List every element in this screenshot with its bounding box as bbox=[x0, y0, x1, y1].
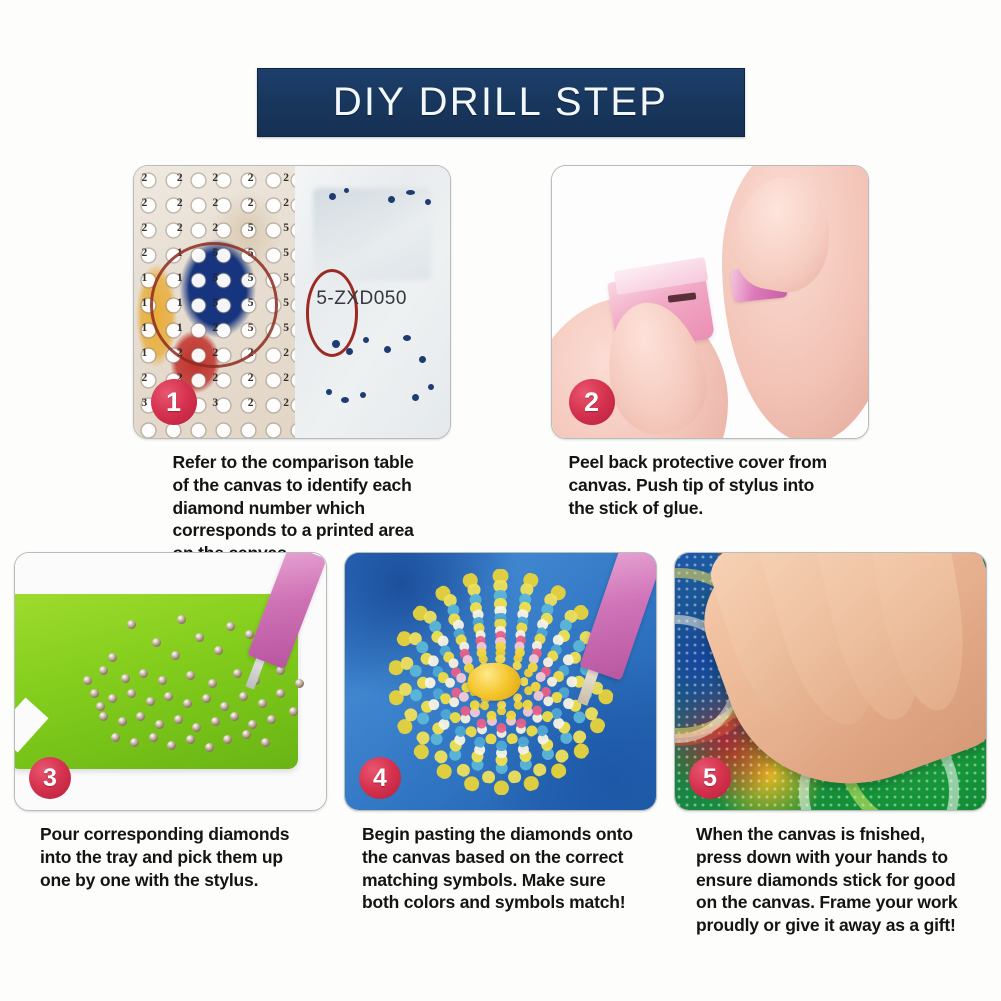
diamond-drill bbox=[202, 694, 211, 703]
step-5-photo: 5 bbox=[674, 552, 987, 811]
bag-label-text: 5-ZXD050 bbox=[316, 288, 407, 310]
step-1-caption: Refer to the comparison table of the can… bbox=[133, 451, 451, 565]
diamond-drill bbox=[146, 697, 155, 706]
diamond-drill bbox=[267, 715, 276, 724]
diamond-drill bbox=[155, 720, 164, 729]
diamond-drill bbox=[90, 689, 99, 698]
step-4-photo: 4 bbox=[344, 552, 657, 811]
diamond-drill bbox=[139, 669, 148, 678]
step-card-3: 3 Pour corresponding diamonds into the t… bbox=[14, 552, 327, 937]
diamond-drill bbox=[177, 615, 186, 624]
step-card-4: 4 Begin pasting the diamonds onto the ca… bbox=[344, 552, 657, 937]
step-card-5: 5 When the canvas is fnished, press down… bbox=[674, 552, 987, 937]
diamond-drill bbox=[152, 638, 161, 647]
diamond-drill bbox=[289, 707, 298, 716]
diamond-drill bbox=[295, 679, 304, 688]
diamond-drill bbox=[96, 702, 105, 711]
diamond-drill bbox=[261, 738, 270, 747]
step-5-caption: When the canvas is fnished, press down w… bbox=[674, 823, 987, 937]
diamond-drill bbox=[214, 646, 223, 655]
drill-bag: 5-ZXD050 bbox=[295, 166, 450, 438]
canvas-highlight-circle-icon bbox=[150, 242, 278, 368]
step-4-badge: 4 bbox=[359, 757, 401, 799]
diamond-drill bbox=[127, 620, 136, 629]
step-5-badge: 5 bbox=[689, 757, 731, 799]
diamond-drill bbox=[167, 741, 176, 750]
diamond-drill bbox=[195, 633, 204, 642]
diamond-drill bbox=[205, 743, 214, 752]
step-2-photo: 2 bbox=[551, 165, 869, 439]
diamond-drill bbox=[174, 715, 183, 724]
title-banner: DIY DRILL STEP bbox=[257, 68, 745, 137]
step-card-2: 2 Peel back protective cover from canvas… bbox=[551, 165, 869, 565]
steps-row-top: 2 2 2 2 2 2 2 2 2 2 2 2 2 2 2 2 2 2 2 2 … bbox=[0, 165, 1001, 565]
diamond-drill bbox=[239, 692, 248, 701]
diamond-drill bbox=[121, 674, 130, 683]
step-card-1: 2 2 2 2 2 2 2 2 2 2 2 2 2 2 2 2 2 2 2 2 … bbox=[133, 165, 451, 565]
diamond-drill bbox=[99, 666, 108, 675]
diamond-drill bbox=[171, 651, 180, 660]
step-3-badge: 3 bbox=[29, 757, 71, 799]
step-3-photo: 3 bbox=[14, 552, 327, 811]
step-3-caption: Pour corresponding diamonds into the tra… bbox=[14, 823, 327, 891]
diamond-drill bbox=[230, 712, 239, 721]
step-2-badge: 2 bbox=[569, 379, 615, 425]
page-title: DIY DRILL STEP bbox=[333, 80, 668, 125]
diamond-drill bbox=[149, 733, 158, 742]
mandala-center-gem bbox=[468, 662, 521, 701]
diamond-drill bbox=[192, 723, 201, 732]
diamond-drill bbox=[208, 679, 217, 688]
step-1-badge: 1 bbox=[151, 379, 197, 425]
step-4-caption: Begin pasting the diamonds onto the canv… bbox=[344, 823, 657, 914]
title-banner-wrap: DIY DRILL STEP bbox=[0, 68, 1001, 137]
step-1-photo: 2 2 2 2 2 2 2 2 2 2 2 2 2 2 2 2 2 2 2 2 … bbox=[133, 165, 451, 439]
bag-sheen bbox=[313, 188, 431, 280]
step-2-caption: Peel back protective cover from canvas. … bbox=[551, 451, 869, 519]
diamond-drill bbox=[233, 669, 242, 678]
steps-row-bottom: 3 Pour corresponding diamonds into the t… bbox=[0, 552, 1001, 937]
diamond-drill bbox=[164, 692, 173, 701]
